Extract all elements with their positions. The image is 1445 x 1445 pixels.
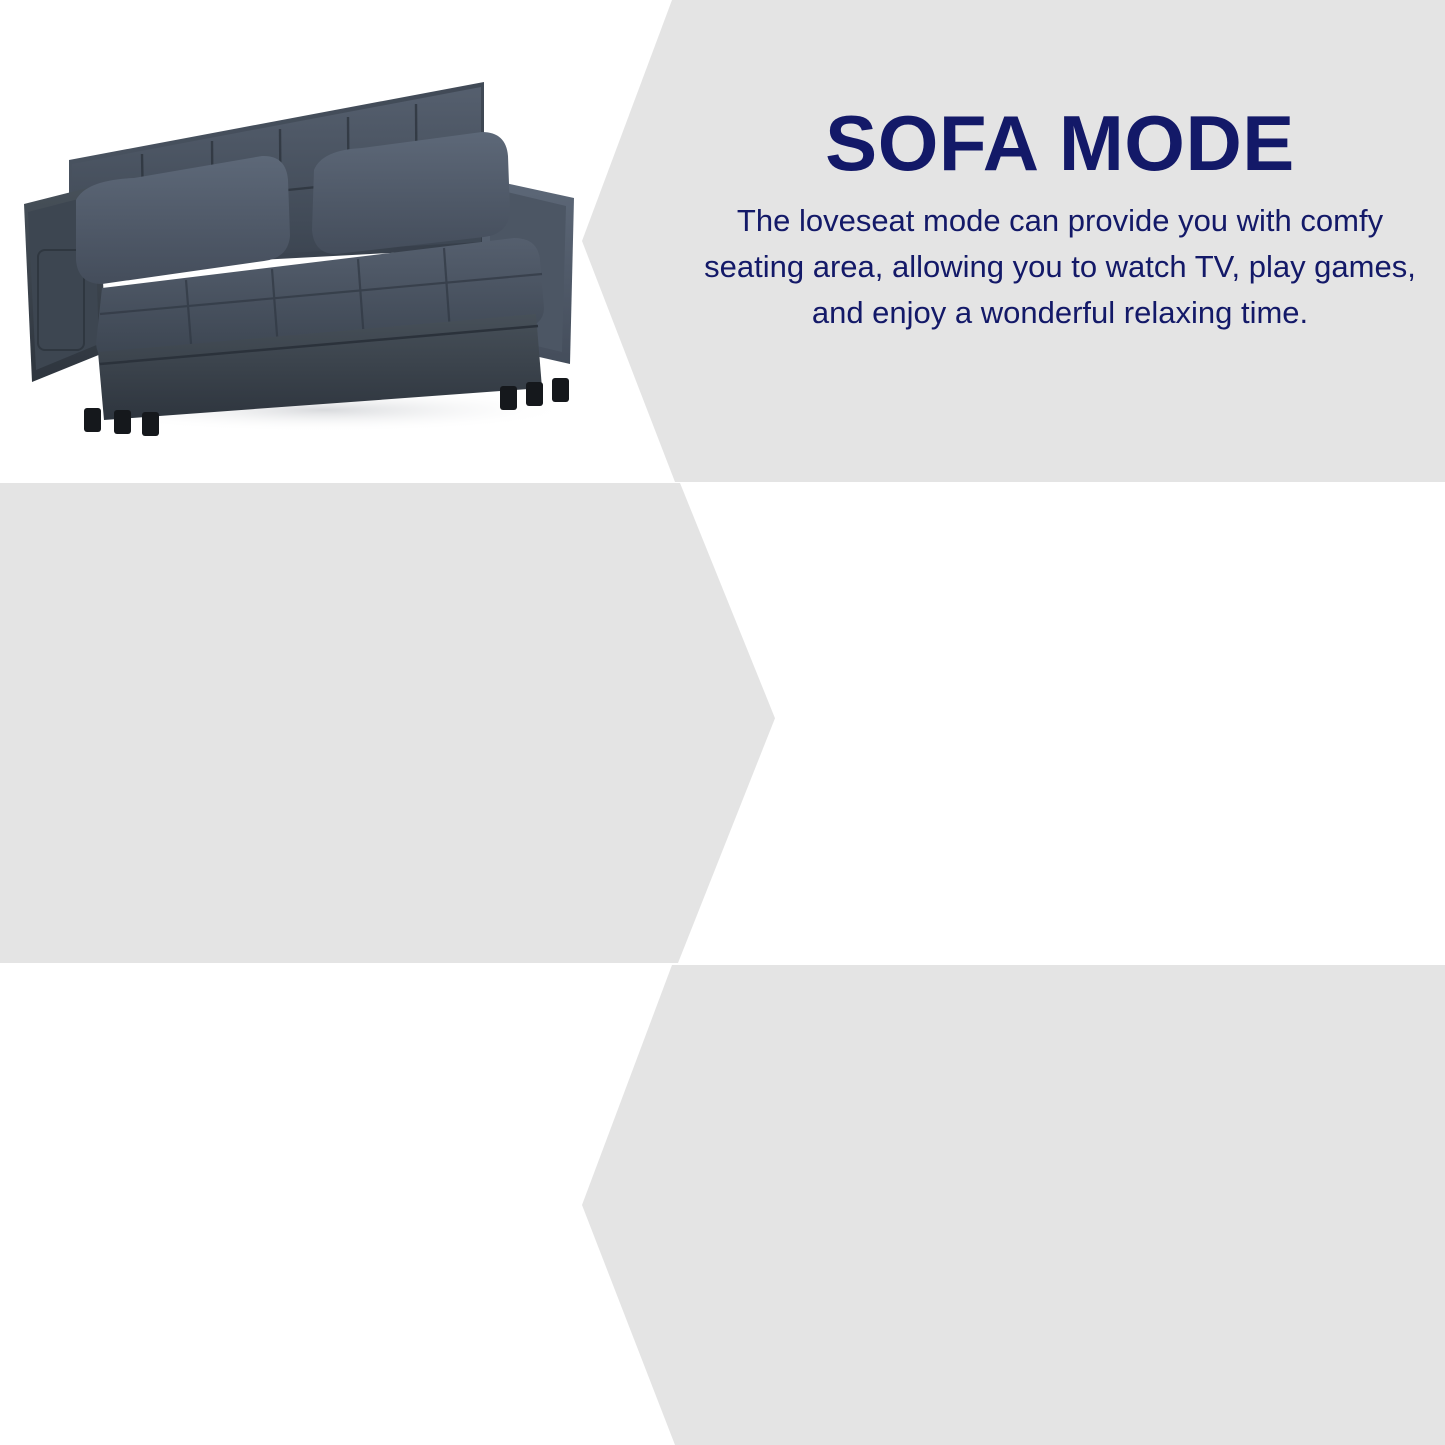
text-block-sofa-mode: SOFA MODE The loveseat mode can provide … [690,104,1430,336]
section-bed-mode: BED MODE Pull down the backrest to turn … [0,965,1445,1445]
section-lounger-mode: LOUNGER MODE Pull out the end of the sof… [0,483,1445,963]
infographic-board: SOFA MODE The loveseat mode can provide … [0,0,1445,1445]
panel-background-bed [0,965,1445,1445]
mode-description-sofa: The loveseat mode can provide you with c… [690,198,1430,336]
product-photo-sofa-mode [14,52,614,442]
mode-title-sofa: SOFA MODE [690,104,1430,182]
section-sofa-mode: SOFA MODE The loveseat mode can provide … [0,0,1445,482]
panel-background-lounger [0,483,790,963]
